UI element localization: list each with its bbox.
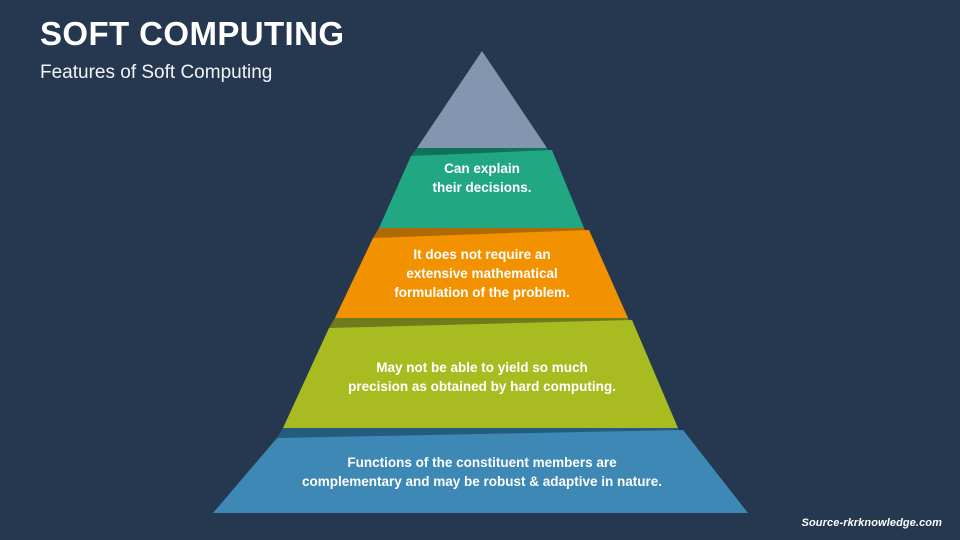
source-watermark: Source-rkrknowledge.com — [802, 517, 942, 529]
pyramid-level-blue-shape[interactable] — [213, 430, 748, 513]
pyramid-level-green-shape[interactable] — [283, 320, 678, 428]
pyramid-level-teal-shape[interactable] — [379, 150, 584, 228]
pyramid-diagram — [0, 0, 960, 540]
pyramid-level-orange-shape[interactable] — [335, 230, 628, 318]
slide: SOFT COMPUTING Features of Soft Computin… — [0, 0, 960, 540]
pyramid-apex-shape[interactable] — [417, 51, 547, 148]
